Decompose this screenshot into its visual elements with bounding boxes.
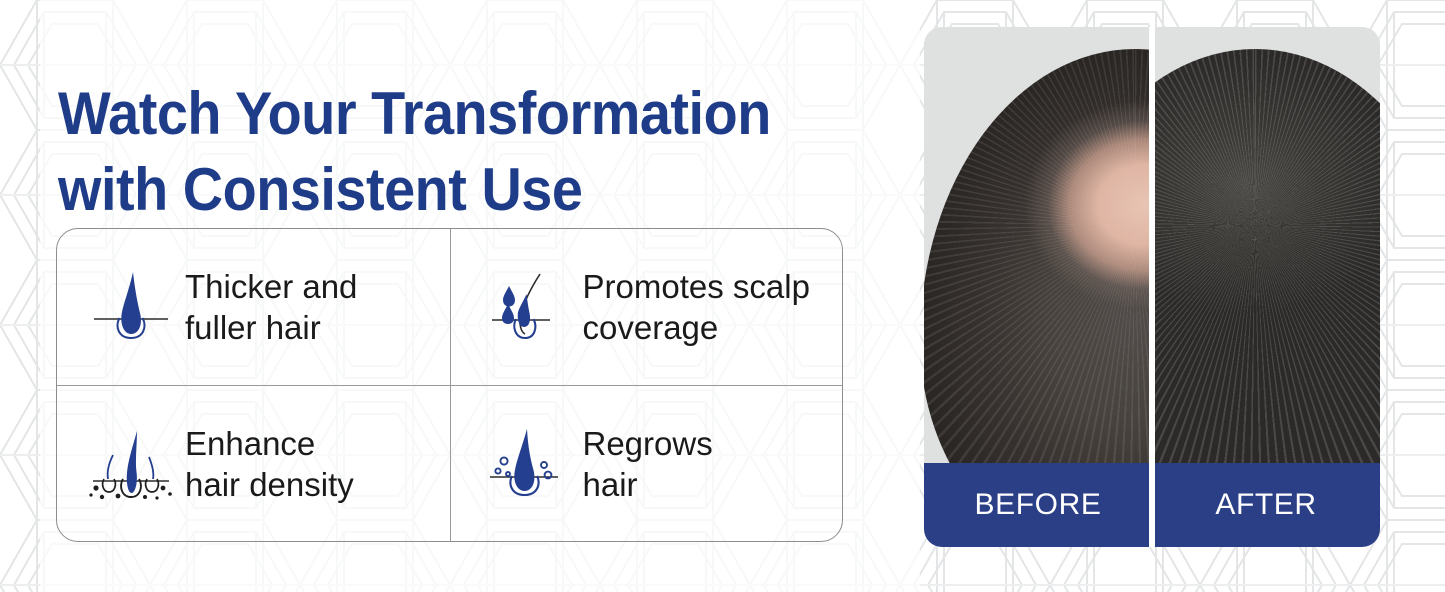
left-content-column: Watch Your Transformation with Consisten… <box>0 0 900 592</box>
feature-label: Regrows hair <box>583 423 713 505</box>
before-after-panel: BEFORE AFTER <box>924 27 1380 547</box>
feature-label: Thicker and fuller hair <box>185 266 357 348</box>
feature-cell-enhance-hair-density[interactable]: Enhance hair density <box>57 385 450 541</box>
hair-texture <box>1152 49 1380 468</box>
photo-divider <box>1149 27 1155 468</box>
feature-cell-regrows-hair[interactable]: Regrows hair <box>450 385 843 541</box>
hair-texture <box>924 49 1152 468</box>
page-title: Watch Your Transformation with Consisten… <box>58 76 821 228</box>
full-hair-head-image <box>1152 49 1380 468</box>
feature-benefits-grid: Thicker and fuller hair Promotes scalp c… <box>56 228 843 542</box>
feature-cell-thicker-fuller-hair[interactable]: Thicker and fuller hair <box>57 229 450 385</box>
feature-label: Promotes scalp coverage <box>583 266 810 348</box>
hair-follicle-icon <box>83 259 179 355</box>
after-photo-half <box>1152 27 1380 468</box>
label-bar-divider <box>1149 463 1155 547</box>
after-label: AFTER <box>1152 463 1380 547</box>
balding-head-image <box>924 49 1152 468</box>
feature-cell-promotes-scalp-coverage[interactable]: Promotes scalp coverage <box>450 229 843 385</box>
hair-follicle-droplets-icon <box>477 259 573 355</box>
multiple-follicles-icon <box>83 416 179 512</box>
before-label: BEFORE <box>924 463 1152 547</box>
before-after-photo <box>924 27 1380 468</box>
before-photo-half <box>924 27 1152 468</box>
before-after-label-bar: BEFORE AFTER <box>924 463 1380 547</box>
follicle-bubbles-icon <box>477 416 573 512</box>
feature-label: Enhance hair density <box>185 423 354 505</box>
